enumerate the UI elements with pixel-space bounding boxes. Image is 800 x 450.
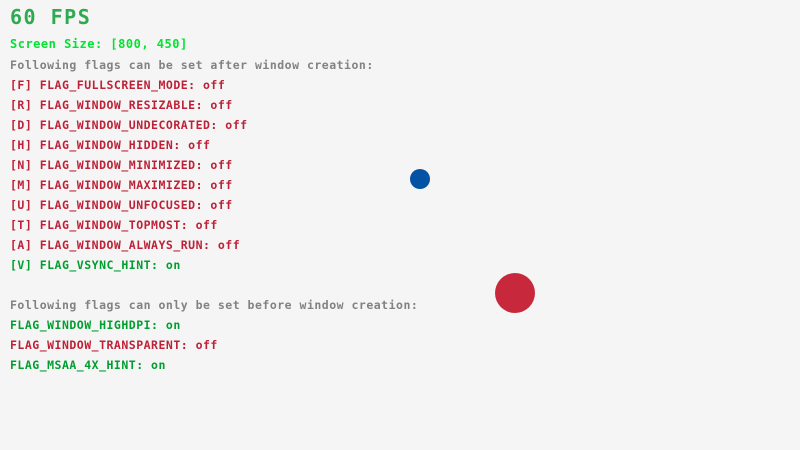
screen-size-label: Screen Size: [800, 450] bbox=[10, 37, 188, 51]
raylib-window-canvas: 60 FPS Screen Size: [800, 450] Following… bbox=[0, 0, 800, 450]
flag-row-flag-window-minimized[interactable]: [N] FLAG_WINDOW_MINIMIZED: off bbox=[10, 158, 233, 172]
flag-row-flag-window-highdpi[interactable]: FLAG_WINDOW_HIGHDPI: on bbox=[10, 318, 181, 332]
flag-row-flag-window-undecorated[interactable]: [D] FLAG_WINDOW_UNDECORATED: off bbox=[10, 118, 248, 132]
flag-row-flag-window-maximized[interactable]: [M] FLAG_WINDOW_MAXIMIZED: off bbox=[10, 178, 233, 192]
flag-row-flag-window-topmost[interactable]: [T] FLAG_WINDOW_TOPMOST: off bbox=[10, 218, 218, 232]
small-blue-ball bbox=[410, 169, 430, 189]
large-red-ball bbox=[495, 273, 535, 313]
flag-row-flag-msaa-4x-hint[interactable]: FLAG_MSAA_4X_HINT: on bbox=[10, 358, 166, 372]
flag-row-flag-window-unfocused[interactable]: [U] FLAG_WINDOW_UNFOCUSED: off bbox=[10, 198, 233, 212]
flag-row-flag-window-always-run[interactable]: [A] FLAG_WINDOW_ALWAYS_RUN: off bbox=[10, 238, 240, 252]
creation-flags-heading: Following flags can only be set before w… bbox=[10, 298, 418, 312]
flag-row-flag-vsync-hint[interactable]: [V] FLAG_VSYNC_HINT: on bbox=[10, 258, 181, 272]
flag-row-flag-window-hidden[interactable]: [H] FLAG_WINDOW_HIDDEN: off bbox=[10, 138, 210, 152]
runtime-flags-heading: Following flags can be set after window … bbox=[10, 58, 374, 72]
fps-counter: 60 FPS bbox=[10, 6, 91, 28]
flag-row-flag-window-transparent[interactable]: FLAG_WINDOW_TRANSPARENT: off bbox=[10, 338, 218, 352]
flag-row-flag-fullscreen-mode[interactable]: [F] FLAG_FULLSCREEN_MODE: off bbox=[10, 78, 225, 92]
flag-row-flag-window-resizable[interactable]: [R] FLAG_WINDOW_RESIZABLE: off bbox=[10, 98, 233, 112]
